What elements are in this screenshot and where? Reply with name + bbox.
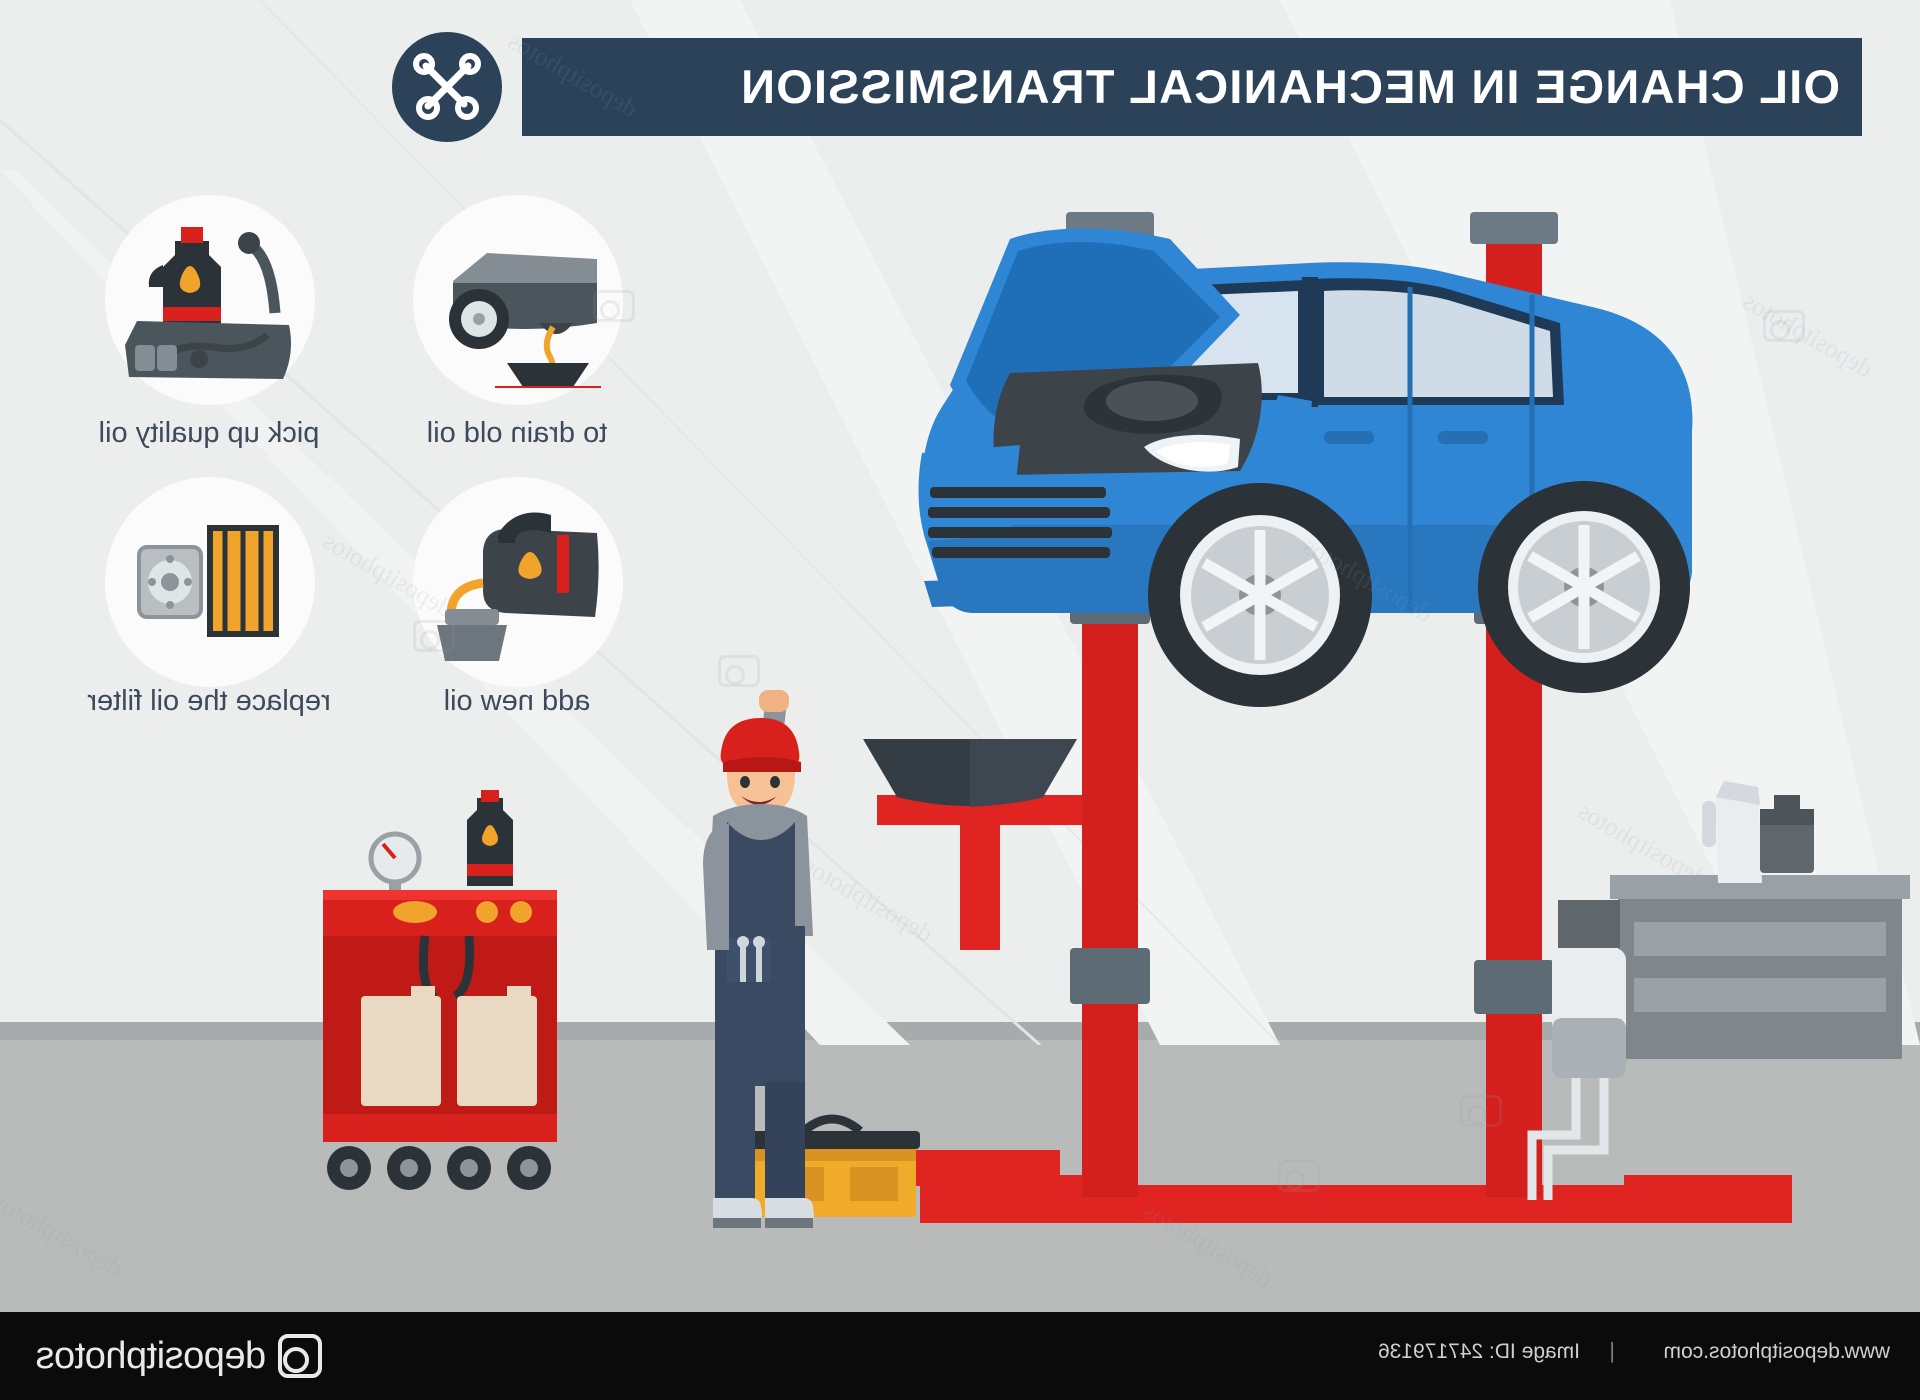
steps-panel: to drain old oil pick: [45, 195, 875, 755]
gearbox-and-oil-bottle-icon: [117, 217, 297, 392]
step-1-label: to drain old oil: [357, 417, 677, 450]
workbench-drawer-2: [1634, 978, 1886, 1012]
mirrored-artwork-wrapper: to drain old oil pick: [0, 0, 1920, 1400]
camera-icon: [278, 1334, 322, 1378]
car-on-lift: [910, 195, 1710, 725]
crossed-wrench-spanner-icon: [410, 50, 484, 124]
oil-bottles-on-bench: [1640, 765, 1820, 885]
footer-site-url[interactable]: www.depositphotos.com: [1664, 1340, 1890, 1364]
footer-bar: www.depositphotos.com | Image ID: 247179…: [0, 1312, 1920, 1400]
tool-cart: [315, 790, 565, 1220]
step-3-label: add new oil: [357, 685, 677, 718]
footer-image-id: Image ID: 247179136: [1378, 1340, 1580, 1364]
oil-canister-pouring-icon: [423, 505, 603, 665]
tools-badge: [392, 32, 502, 142]
page-title: OIL CHANGE IN MECHANICAL TRANSMISSION: [522, 38, 1862, 136]
depositphotos-logo[interactable]: depositphotos: [36, 1330, 322, 1382]
car-draining-oil-into-pan-icon: [427, 223, 607, 388]
oil-drain-pan: [855, 735, 1085, 815]
title-bar: OIL CHANGE IN MECHANICAL TRANSMISSION: [522, 38, 1862, 136]
illustration-stage: to drain old oil pick: [0, 0, 1920, 1400]
workbench-drawer-1: [1634, 922, 1886, 956]
footer-separator: |: [1609, 1338, 1615, 1364]
lift-arm-post: [960, 820, 1000, 950]
lift-carriage-right: [1070, 948, 1150, 1004]
mechanic-character: [685, 690, 835, 1235]
step-4-label: replace the oil filter: [49, 685, 369, 718]
step-2-label: pick up quality oil: [49, 417, 369, 450]
compressor-unit: [1514, 900, 1634, 1200]
lift-base-foot-left: [1624, 1175, 1792, 1223]
front-wheel: [1148, 483, 1372, 707]
rear-wheel: [1478, 481, 1690, 693]
oil-filter-cartridge-icon: [120, 507, 285, 662]
brand-name: depositphotos: [36, 1335, 266, 1378]
